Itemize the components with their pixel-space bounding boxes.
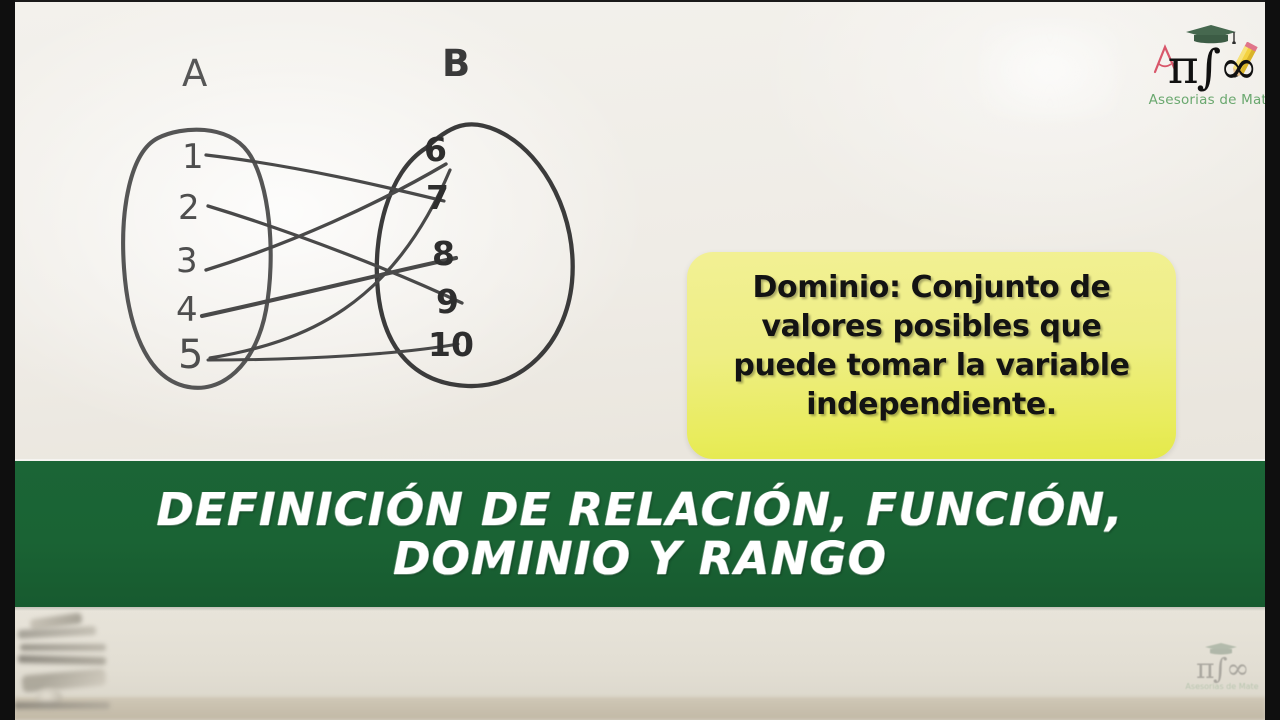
brand-watermark: π∫∞ Asesorias de Mate xyxy=(1178,642,1266,704)
marker-object xyxy=(20,644,106,651)
ledge-floor xyxy=(14,697,1266,720)
set-b-element: 7 xyxy=(426,178,449,217)
marker-object xyxy=(14,702,110,709)
ledge-shadow xyxy=(14,607,1266,611)
title-banner: Definición de relación, función, dominio… xyxy=(14,461,1266,607)
mapping-line-5-6 xyxy=(210,170,450,358)
watermark-symbol: π∫∞ xyxy=(1178,652,1266,685)
set-a-element: 3 xyxy=(176,241,198,281)
set-b-element: 9 xyxy=(436,282,459,321)
video-frame: A B 1 2 3 4 5 6 7 8 9 10 Dominio: Conjun… xyxy=(0,0,1280,720)
whiteboard-glare xyxy=(980,20,1120,120)
set-a-element: 4 xyxy=(176,290,198,330)
definition-callout: Dominio: Conjunto de valores posibles qu… xyxy=(687,252,1176,459)
set-a-element: 1 xyxy=(182,137,204,177)
set-b-element: 6 xyxy=(424,130,447,169)
set-b-label: B xyxy=(442,42,470,85)
letterbox-bar-left xyxy=(0,0,15,720)
set-a-element: 5 xyxy=(178,332,203,378)
brand-logo: π∫∞ Asesorias de Mate xyxy=(1148,22,1280,118)
set-b-element: 8 xyxy=(432,234,455,273)
watermark-subtitle: Asesorias de Mate xyxy=(1178,682,1266,691)
logo-subtitle: Asesorias de Mate xyxy=(1148,92,1276,108)
mapping-diagram: A B 1 2 3 4 5 6 7 8 9 10 xyxy=(110,20,670,420)
set-b-element: 10 xyxy=(428,325,474,364)
mapping-line-4-8 xyxy=(202,258,456,316)
banner-title: Definición de relación, función, dominio… xyxy=(30,485,1250,584)
set-a-element: 2 xyxy=(178,188,200,228)
banner-title-line-2: y rango xyxy=(648,532,887,585)
set-a-label: A xyxy=(182,52,207,95)
set-b-oval xyxy=(377,124,573,386)
callout-text: Dominio: Conjunto de valores posibles qu… xyxy=(709,268,1154,424)
banner-title-line-1: Definición de relación, función, dominio xyxy=(156,483,1123,586)
letterbox-bar-right xyxy=(1265,0,1280,720)
logo-symbol: π∫∞ xyxy=(1148,42,1276,94)
